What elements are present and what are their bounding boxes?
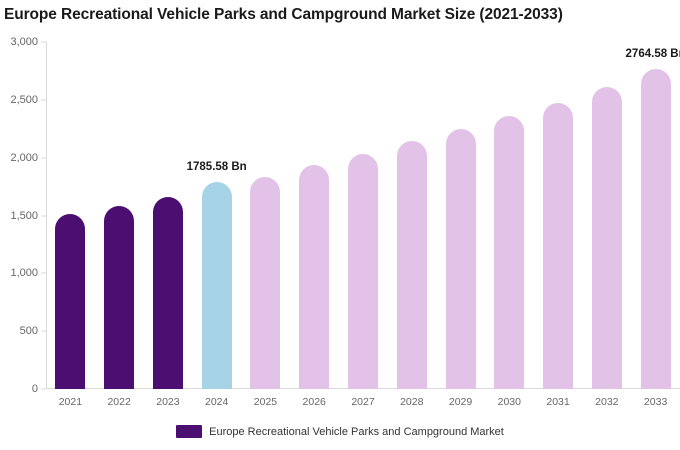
y-tick-label: 3,000 bbox=[10, 36, 38, 48]
bar-2033[interactable] bbox=[641, 69, 671, 389]
legend-label: Europe Recreational Vehicle Parks and Ca… bbox=[209, 426, 504, 438]
x-tick-label-2033: 2033 bbox=[644, 396, 667, 408]
bar-2024[interactable] bbox=[202, 182, 232, 389]
y-tick-label: 500 bbox=[20, 325, 38, 337]
bar-2025[interactable] bbox=[250, 177, 280, 389]
bar-2030[interactable] bbox=[494, 116, 524, 389]
bar-slot bbox=[95, 42, 144, 389]
plot-area: 1785.58 Bn2764.58 Bn 05001,0001,5002,000… bbox=[46, 42, 680, 389]
y-tick-mark bbox=[41, 42, 46, 43]
bars-layer: 1785.58 Bn2764.58 Bn bbox=[46, 42, 680, 389]
bar-slot bbox=[582, 42, 631, 389]
bar-slot bbox=[436, 42, 485, 389]
y-tick-label: 2,000 bbox=[10, 152, 38, 164]
bar-2029[interactable] bbox=[446, 129, 476, 389]
y-tick-mark bbox=[41, 215, 46, 216]
x-tick-label-2027: 2027 bbox=[351, 396, 374, 408]
bar-2022[interactable] bbox=[104, 206, 134, 389]
bar-slot: 1785.58 Bn bbox=[192, 42, 241, 389]
bar-slot bbox=[144, 42, 193, 389]
bar-slot bbox=[241, 42, 290, 389]
bar-slot bbox=[290, 42, 339, 389]
bar-2026[interactable] bbox=[299, 165, 329, 389]
bar-2028[interactable] bbox=[397, 141, 427, 389]
bar-2021[interactable] bbox=[55, 214, 85, 389]
bar-slot bbox=[339, 42, 388, 389]
y-tick-label: 1,500 bbox=[10, 210, 38, 222]
y-tick-mark bbox=[41, 389, 46, 390]
x-tick-label-2030: 2030 bbox=[498, 396, 521, 408]
x-tick-label-2028: 2028 bbox=[400, 396, 423, 408]
x-tick-label-2021: 2021 bbox=[59, 396, 82, 408]
y-tick-label: 1,000 bbox=[10, 267, 38, 279]
x-tick-label-2025: 2025 bbox=[254, 396, 277, 408]
bar-slot bbox=[485, 42, 534, 389]
legend-swatch bbox=[176, 425, 202, 438]
x-tick-label-2029: 2029 bbox=[449, 396, 472, 408]
y-tick-label: 0 bbox=[32, 383, 38, 395]
x-tick-label-2022: 2022 bbox=[107, 396, 130, 408]
x-tick-label-2031: 2031 bbox=[546, 396, 569, 408]
x-tick-label-2023: 2023 bbox=[156, 396, 179, 408]
y-tick-mark bbox=[41, 331, 46, 332]
bar-2023[interactable] bbox=[153, 197, 183, 389]
bar-2027[interactable] bbox=[348, 154, 378, 389]
bar-slot bbox=[534, 42, 583, 389]
y-tick-mark bbox=[41, 157, 46, 158]
y-tick-label: 2,500 bbox=[10, 94, 38, 106]
bar-value-label-2033: 2764.58 Bn bbox=[626, 48, 680, 60]
bar-2031[interactable] bbox=[543, 103, 573, 389]
bar-slot bbox=[387, 42, 436, 389]
chart-legend: Europe Recreational Vehicle Parks and Ca… bbox=[0, 425, 680, 438]
bar-slot: 2764.58 Bn bbox=[631, 42, 680, 389]
chart-container: Europe Recreational Vehicle Parks and Ca… bbox=[0, 0, 680, 450]
bar-2032[interactable] bbox=[592, 87, 622, 389]
x-tick-label-2026: 2026 bbox=[303, 396, 326, 408]
x-tick-label-2024: 2024 bbox=[205, 396, 228, 408]
x-tick-label-2032: 2032 bbox=[595, 396, 618, 408]
bar-slot bbox=[46, 42, 95, 389]
bar-value-label-2024: 1785.58 Bn bbox=[187, 161, 247, 173]
y-tick-mark bbox=[41, 99, 46, 100]
chart-title: Europe Recreational Vehicle Parks and Ca… bbox=[4, 6, 563, 24]
y-tick-mark bbox=[41, 273, 46, 274]
